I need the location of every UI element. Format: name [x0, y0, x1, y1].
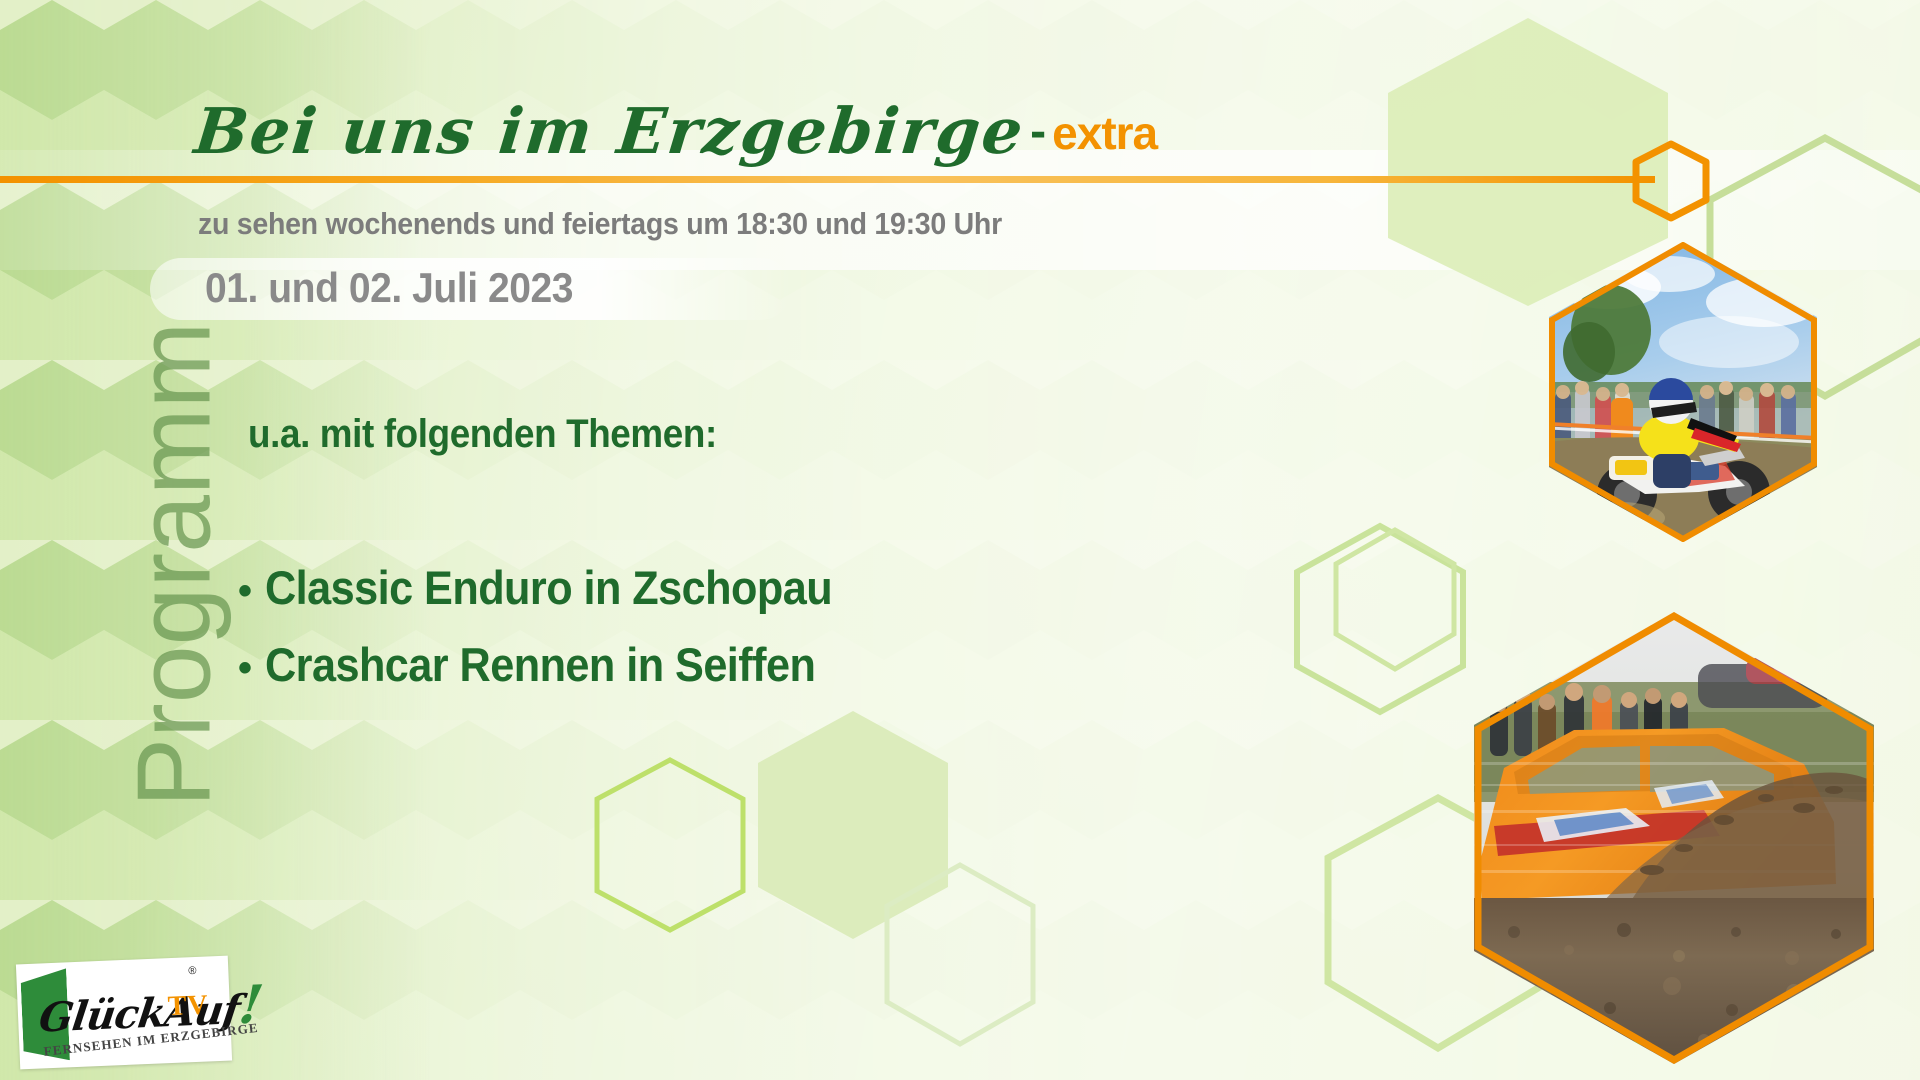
page-title: Bei uns im Erzgebirge-extra [195, 100, 1157, 163]
photo-hex-border [1549, 242, 1817, 542]
decorative-hexagon-outline-midright [1290, 520, 1470, 720]
logo-tv-label: TV [167, 989, 209, 1023]
broadcast-slide: Bei uns im Erzgebirge-extra zu sehen woc… [0, 0, 1920, 1080]
decorative-hexagon-outline-small [1330, 525, 1460, 675]
airtime-note: zu sehen wochenends und feiertags um 18:… [198, 206, 1002, 242]
title-extra-badge: extra [1052, 107, 1157, 159]
sidebar-label-programm: Programm [116, 215, 235, 915]
decorative-hexagon-outline-center [590, 755, 750, 935]
list-item: • Classic Enduro in Zschopau [238, 560, 882, 615]
crashcar-photo [1474, 612, 1874, 1064]
registered-trademark-icon: ® [188, 965, 197, 977]
orange-hexagon-icon [1630, 140, 1712, 222]
title-dash: - [1024, 105, 1052, 158]
decorative-hexagon-filled-center [748, 705, 958, 945]
bullet-dot-icon: • [238, 648, 251, 688]
bullet-dot-icon: • [238, 571, 251, 611]
topics-intro: u.a. mit folgenden Themen: [248, 412, 717, 457]
list-item: • Crashcar Rennen in Seiffen [238, 637, 882, 692]
photo-hex-border [1474, 612, 1874, 1064]
list-item-label: Crashcar Rennen in Seiffen [265, 637, 815, 692]
decorative-hexagon-outline-faint [880, 860, 1040, 1050]
orange-divider-rule [0, 176, 1655, 183]
title-script: Bei uns im Erzgebirge [192, 100, 1028, 163]
enduro-motorcycle-photo [1549, 242, 1817, 542]
list-item-label: Classic Enduro in Zschopau [265, 560, 832, 615]
topics-list: • Classic Enduro in Zschopau • Crashcar … [238, 560, 882, 714]
broadcast-date: 01. und 02. Juli 2023 [205, 264, 573, 312]
station-logo[interactable]: GlückAuf! TV ® FERNSEHEN IM ERZGEBIRGE [18, 960, 230, 1065]
